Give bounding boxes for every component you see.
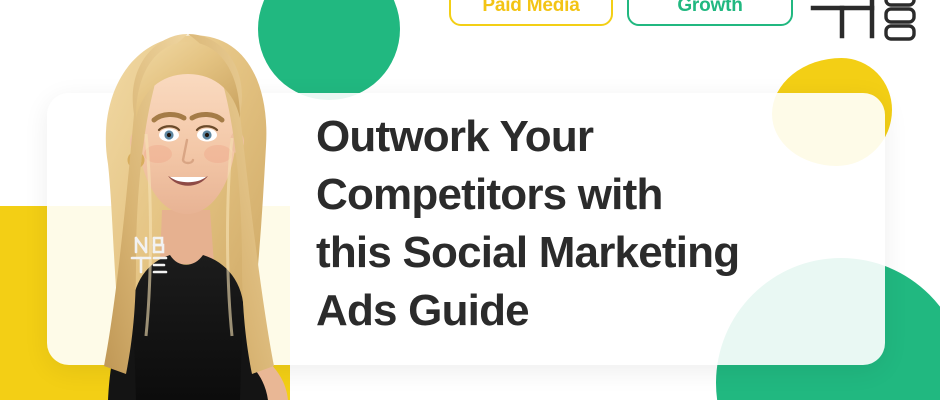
- tag-row: Paid Media Growth: [449, 0, 793, 26]
- table-and-list-icon: [810, 0, 930, 46]
- banner-root: Outwork Your Competitors with this Socia…: [0, 0, 940, 400]
- tag-growth[interactable]: Growth: [627, 0, 793, 26]
- brand-logo[interactable]: BOOK: [810, 0, 930, 46]
- tag-paid-media[interactable]: Paid Media: [449, 0, 613, 26]
- portrait-image: [74, 14, 300, 400]
- page-title: Outwork Your Competitors with this Socia…: [316, 108, 876, 340]
